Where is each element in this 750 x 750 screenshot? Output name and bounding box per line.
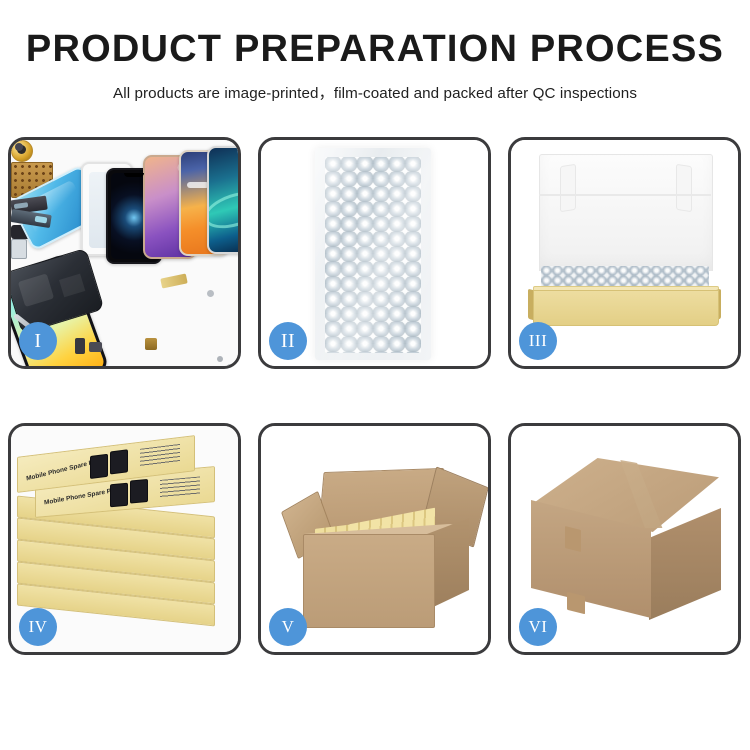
step-panel-4: Mobile Phone Spare Parts Mobile Phone Sp… xyxy=(8,423,241,655)
page-header: PRODUCT PREPARATION PROCESS All products… xyxy=(0,0,750,103)
box-lid-flap-right xyxy=(676,164,692,213)
step-badge-1: I xyxy=(19,322,57,360)
step-panel-1: I xyxy=(8,137,241,369)
bubble-pattern xyxy=(325,157,421,353)
box-lid xyxy=(539,154,713,271)
phone-ui-pill xyxy=(187,182,209,188)
screw-part-icon xyxy=(227,364,233,366)
carton-front-face xyxy=(303,534,435,628)
screw-part-icon xyxy=(207,290,214,297)
product-preparation-page: PRODUCT PREPARATION PROCESS All products… xyxy=(0,0,750,750)
step-panel-2: II xyxy=(258,137,491,369)
sim-tray-part-icon xyxy=(11,239,27,259)
process-steps-grid: I II xyxy=(8,137,742,655)
step-panel-5: V xyxy=(258,423,491,655)
carton-fold-tab xyxy=(567,592,585,614)
step-badge-6: VI xyxy=(519,608,557,646)
step-badge-2: II xyxy=(269,322,307,360)
step-panel-6: VI xyxy=(508,423,741,655)
open-shipping-carton xyxy=(287,466,463,626)
connector-part-icon xyxy=(145,338,157,350)
sealed-shipping-carton xyxy=(531,458,723,626)
box-screen-graphic xyxy=(130,479,148,504)
box-spec-text-lines xyxy=(160,476,200,497)
page-subtitle: All products are image-printed，film-coat… xyxy=(0,81,750,103)
flex-cable-part-icon xyxy=(160,273,188,288)
phone-notch-icon xyxy=(124,173,144,177)
page-title: PRODUCT PREPARATION PROCESS xyxy=(0,30,750,70)
button-part-icon xyxy=(89,342,102,352)
button-part-icon xyxy=(75,338,85,354)
step-badge-3: III xyxy=(519,322,557,360)
step-badge-4: IV xyxy=(19,608,57,646)
box-screen-graphic xyxy=(110,449,128,474)
box-stack: Mobile Phone Spare Parts Mobile Phone Sp… xyxy=(17,444,233,640)
step-panel-3: III xyxy=(508,137,741,369)
box-lid-fold-line xyxy=(539,194,711,196)
teal-phone-icon xyxy=(207,146,238,254)
carton-fold-tab xyxy=(565,526,581,552)
step-badge-5: V xyxy=(269,608,307,646)
box-lid-flap-left xyxy=(560,164,576,213)
box-tray-front xyxy=(533,290,719,326)
bubble-wrap-sheet xyxy=(315,148,431,360)
speaker-part-icon xyxy=(11,140,33,162)
box-screen-graphic xyxy=(110,483,128,508)
screw-part-icon xyxy=(217,356,223,362)
box-screen-graphic xyxy=(90,454,108,479)
phone-wallpaper-swoosh xyxy=(207,185,238,235)
